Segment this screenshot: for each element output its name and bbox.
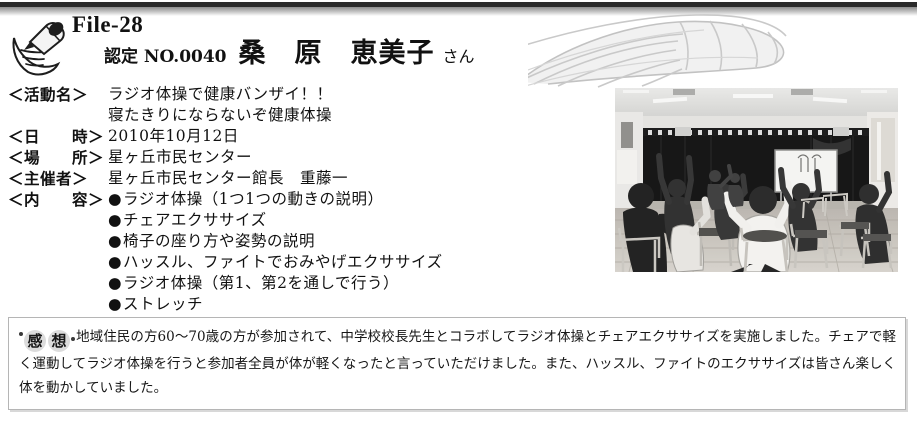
bullet-icon: ● [108, 232, 122, 250]
bullet-icon: ● [108, 211, 122, 229]
indent-spacer [8, 252, 108, 273]
person-name: 桑 原 恵美子 [239, 38, 435, 69]
activity-details: ＜活動名＞ ラジオ体操で健康バンザイ！！ ＜ ＞ 寝たきりにならないぞ健康体操 … [8, 84, 608, 315]
detail-value: 星ヶ丘市民センター [108, 147, 252, 168]
certification-number: 認定 NO.0040 [104, 47, 227, 67]
content-list-item: ●チェアエクササイズ [8, 210, 608, 231]
content-item-label: 椅子の座り方や姿勢の説明 [123, 232, 315, 250]
detail-value: ラジオ体操で健康バンザイ！！ [108, 84, 332, 105]
detail-label: ＜日 時＞ [8, 126, 108, 147]
impression-tag: 感想 [19, 325, 75, 352]
feather-watermark-icon [528, 10, 917, 88]
detail-label: ＜活動名＞ [8, 84, 108, 105]
content-list-item: ●ラジオ体操（第1、第2を通しで行う） [8, 273, 608, 294]
content-item-label: ラジオ体操（第1、第2を通しで行う） [123, 274, 399, 292]
detail-row-organizer: ＜主催者＞ 星ヶ丘市民センター館長 重藤一 [8, 168, 608, 189]
detail-row-location: ＜場 所＞ 星ヶ丘市民センター [8, 147, 608, 168]
content-item-label: ラジオ体操（1つ1つの動きの説明） [123, 190, 383, 208]
content-item: ●ラジオ体操（1つ1つの動きの説明） [108, 189, 383, 210]
content-list-item: ●椅子の座り方や姿勢の説明 [8, 231, 608, 252]
content-list-item: ●ストレッチ [8, 294, 608, 315]
indent-spacer [8, 231, 108, 252]
tag-dot-right-icon [71, 337, 75, 341]
certified-person-line: 認定 NO.0040桑 原 恵美子さん [104, 40, 475, 67]
indent-spacer [8, 294, 108, 315]
content-item-label: ハッスル、ファイトでおみやげエクササイズ [123, 253, 443, 271]
quill-pen-paper-icon [6, 20, 80, 78]
person-honorific: さん [443, 47, 475, 66]
bullet-icon: ● [108, 274, 122, 292]
impression-tag-char-2: 想 [48, 330, 70, 352]
bullet-icon: ● [108, 253, 122, 271]
detail-row-content: ＜内 容＞ ●ラジオ体操（1つ1つの動きの説明） [8, 189, 608, 210]
content-item: ●ラジオ体操（第1、第2を通しで行う） [108, 273, 399, 294]
indent-spacer [8, 273, 108, 294]
detail-value: 星ヶ丘市民センター館長 重藤一 [108, 168, 348, 189]
page-title: File-28 [72, 12, 143, 38]
impression-box: 感想地域住民の方60～70歳の方が参加されて、中学校校長先生とコラボしてラジオ体… [8, 317, 906, 410]
bullet-icon: ● [108, 295, 122, 313]
tag-dot-left-icon [19, 332, 23, 336]
bullet-icon: ● [108, 190, 122, 208]
impression-tag-char-1: 感 [24, 330, 46, 352]
impression-text: 地域住民の方60～70歳の方が参加されて、中学校校長先生とコラボしてラジオ体操と… [19, 329, 896, 396]
content-item: ●椅子の座り方や姿勢の説明 [108, 231, 315, 252]
content-item: ●ストレッチ [108, 294, 203, 315]
content-item: ●ハッスル、ファイトでおみやげエクササイズ [108, 252, 443, 273]
detail-label: ＜内 容＞ [8, 189, 108, 210]
content-item: ●チェアエクササイズ [108, 210, 267, 231]
detail-value: 2010年10月12日 [108, 126, 239, 147]
content-item-label: ストレッチ [123, 295, 203, 313]
detail-row-activity-name-cont: ＜ ＞ 寝たきりにならないぞ健康体操 [8, 105, 608, 126]
impression-content: 感想地域住民の方60～70歳の方が参加されて、中学校校長先生とコラボしてラジオ体… [9, 318, 905, 400]
content-item-label: チェアエクササイズ [123, 211, 267, 229]
detail-label: ＜主催者＞ [8, 168, 108, 189]
activity-photo [615, 88, 898, 272]
detail-row-datetime: ＜日 時＞ 2010年10月12日 [8, 126, 608, 147]
indent-spacer [8, 210, 108, 231]
detail-row-activity-name: ＜活動名＞ ラジオ体操で健康バンザイ！！ [8, 84, 608, 105]
content-list-item: ●ハッスル、ファイトでおみやげエクササイズ [8, 252, 608, 273]
detail-value: 寝たきりにならないぞ健康体操 [108, 105, 332, 126]
detail-label: ＜場 所＞ [8, 147, 108, 168]
